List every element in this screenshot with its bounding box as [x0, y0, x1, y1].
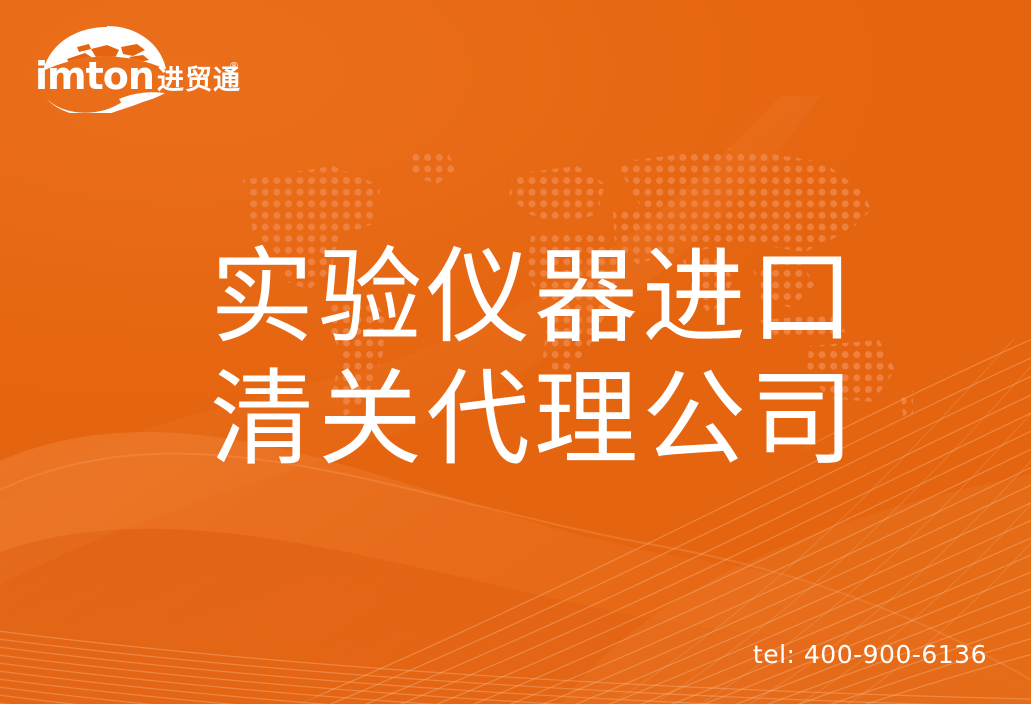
headline-line-1: 实验仪器进口	[210, 236, 910, 358]
headline: 实验仪器进口 清关代理公司	[210, 236, 910, 480]
brand-logo[interactable]: imton 进贸通 ®	[33, 25, 243, 113]
registered-trademark-icon: ®	[229, 62, 239, 72]
contact-phone[interactable]: tel: 400-900-6136	[753, 640, 987, 669]
promo-banner: imton 进贸通 ® 实验仪器进口 清关代理公司 tel: 400-900-6…	[0, 0, 1031, 704]
svg-text:imton: imton	[35, 54, 154, 98]
headline-line-2: 清关代理公司	[210, 358, 910, 480]
